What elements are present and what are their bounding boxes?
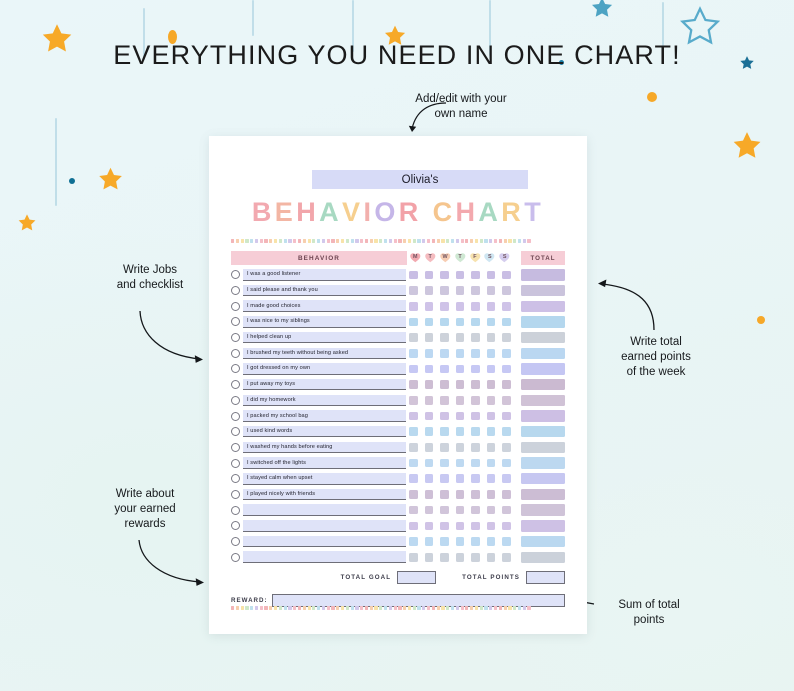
- day-cell[interactable]: [409, 302, 418, 311]
- day-cell[interactable]: [425, 365, 434, 374]
- border-dot: [260, 606, 263, 610]
- day-cell[interactable]: [487, 365, 496, 374]
- day-cell[interactable]: [487, 396, 496, 405]
- border-dot: [451, 239, 454, 243]
- table-row: I washed my hands before eating: [231, 440, 565, 456]
- day-cell[interactable]: [471, 490, 480, 499]
- annotation-total-week: Write total earned points of the week: [601, 335, 711, 380]
- day-cell[interactable]: [425, 380, 434, 389]
- day-cell[interactable]: [409, 490, 418, 499]
- day-cell[interactable]: [425, 490, 434, 499]
- day-cells: [407, 506, 513, 515]
- day-cell[interactable]: [409, 333, 418, 342]
- annotation-rewards: Write about your earned rewards: [88, 487, 202, 532]
- day-cell[interactable]: [440, 490, 449, 499]
- day-cell[interactable]: [502, 506, 511, 515]
- behavior-label-input[interactable]: I was nice to my siblings: [243, 316, 406, 328]
- behavior-label-input[interactable]: [243, 504, 406, 516]
- day-cell[interactable]: [456, 271, 465, 280]
- border-dot: [312, 239, 315, 243]
- day-cells: [407, 318, 513, 327]
- border-dot: [441, 239, 444, 243]
- day-cell[interactable]: [487, 318, 496, 327]
- row-total-cell[interactable]: [521, 426, 565, 437]
- border-dot: [389, 606, 392, 610]
- row-checkbox[interactable]: [231, 490, 240, 499]
- border-dot: [236, 239, 239, 243]
- row-total-cell[interactable]: [521, 379, 565, 390]
- day-cell[interactable]: [487, 271, 496, 280]
- chart-title-letter: H: [296, 197, 319, 228]
- day-cell[interactable]: [440, 318, 449, 327]
- border-dot: [274, 239, 277, 243]
- border-dot: [336, 606, 339, 610]
- day-cells: [407, 427, 513, 436]
- day-cell[interactable]: [425, 302, 434, 311]
- day-cell[interactable]: [487, 427, 496, 436]
- border-dot: [231, 606, 234, 610]
- day-cell[interactable]: [409, 459, 418, 468]
- border-dot: [408, 239, 411, 243]
- row-checkbox[interactable]: [231, 459, 240, 468]
- day-cell[interactable]: [487, 553, 496, 562]
- border-dot: [437, 239, 440, 243]
- border-dot: [417, 606, 420, 610]
- child-name-field[interactable]: Olivia's: [312, 170, 528, 189]
- row-checkbox[interactable]: [231, 380, 240, 389]
- annotation-sum: Sum of total points: [597, 598, 701, 628]
- border-dot: [360, 606, 363, 610]
- day-cell[interactable]: [425, 271, 434, 280]
- day-cell[interactable]: [471, 412, 480, 421]
- border-dot: [355, 606, 358, 610]
- day-cell[interactable]: [471, 443, 480, 452]
- day-cell[interactable]: [425, 522, 434, 531]
- day-cell[interactable]: [471, 302, 480, 311]
- border-dot: [422, 606, 425, 610]
- border-dot: [394, 606, 397, 610]
- day-cell[interactable]: [471, 286, 480, 295]
- border-dot: [475, 606, 478, 610]
- day-cell[interactable]: [502, 412, 511, 421]
- behavior-label-input[interactable]: I brushed my teeth without being asked: [243, 348, 406, 360]
- day-cell[interactable]: [440, 271, 449, 280]
- day-cell[interactable]: [456, 380, 465, 389]
- day-cell[interactable]: [471, 271, 480, 280]
- annotation-arrow-jobs: [130, 308, 210, 366]
- day-cell[interactable]: [409, 474, 418, 483]
- decor-dot: [647, 92, 657, 102]
- day-cell[interactable]: [425, 537, 434, 546]
- row-checkbox[interactable]: [231, 317, 240, 326]
- day-cell[interactable]: [409, 396, 418, 405]
- day-cell[interactable]: [471, 553, 480, 562]
- table-row: I packed my school bag: [231, 408, 565, 424]
- day-cells: [407, 412, 513, 421]
- day-cell[interactable]: [502, 365, 511, 374]
- decor-dot: [757, 316, 765, 324]
- behavior-label-input[interactable]: I washed my hands before eating: [243, 442, 406, 454]
- day-cell[interactable]: [409, 443, 418, 452]
- day-cell[interactable]: [456, 522, 465, 531]
- border-dot: [427, 239, 430, 243]
- border-dot: [379, 239, 382, 243]
- day-cells: [407, 537, 513, 546]
- row-checkbox[interactable]: [231, 474, 240, 483]
- row-total-cell[interactable]: [521, 348, 565, 359]
- row-total-cell[interactable]: [521, 363, 565, 374]
- day-cell[interactable]: [425, 318, 434, 327]
- day-letter: S: [488, 254, 492, 260]
- border-dot: [461, 606, 464, 610]
- behavior-label-input[interactable]: [243, 520, 406, 532]
- page-title: EVERYTHING YOU NEED IN ONE CHART!: [0, 40, 794, 71]
- row-total-cell[interactable]: [521, 410, 565, 421]
- border-dot: [494, 239, 497, 243]
- day-cell[interactable]: [409, 380, 418, 389]
- day-cell[interactable]: [440, 459, 449, 468]
- day-cell[interactable]: [456, 537, 465, 546]
- day-cell[interactable]: [425, 427, 434, 436]
- day-cell[interactable]: [456, 318, 465, 327]
- behavior-label-input[interactable]: I switched off the lights: [243, 457, 406, 469]
- row-total-cell[interactable]: [521, 504, 565, 515]
- day-cell[interactable]: [425, 474, 434, 483]
- border-dot: [245, 606, 248, 610]
- behavior-label-input[interactable]: I packed my school bag: [243, 410, 406, 422]
- totals-row: TOTAL GOAL TOTAL POINTS: [231, 568, 565, 587]
- chart-title-letter: A: [319, 197, 342, 228]
- day-cell[interactable]: [440, 302, 449, 311]
- row-total-cell[interactable]: [521, 520, 565, 531]
- day-cell[interactable]: [471, 506, 480, 515]
- day-cell[interactable]: [409, 349, 418, 358]
- day-cell[interactable]: [502, 302, 511, 311]
- border-dot: [284, 239, 287, 243]
- border-dot: [308, 239, 311, 243]
- day-cells: [407, 459, 513, 468]
- day-cell[interactable]: [409, 318, 418, 327]
- day-cell[interactable]: [471, 459, 480, 468]
- day-cell[interactable]: [487, 333, 496, 342]
- row-total-cell[interactable]: [521, 552, 565, 563]
- row-checkbox[interactable]: [231, 553, 240, 562]
- border-dot: [394, 239, 397, 243]
- behavior-label-input[interactable]: I used kind words: [243, 426, 406, 438]
- day-cell[interactable]: [409, 286, 418, 295]
- day-cell[interactable]: [440, 286, 449, 295]
- chart-title-letter: V: [342, 197, 363, 228]
- border-dot: [260, 239, 263, 243]
- day-cell[interactable]: [409, 427, 418, 436]
- day-cell[interactable]: [425, 553, 434, 562]
- border-dot: [499, 239, 502, 243]
- behavior-label-input[interactable]: I put away my toys: [243, 379, 406, 391]
- day-cell[interactable]: [456, 490, 465, 499]
- day-cell[interactable]: [471, 380, 480, 389]
- annotation-arrow-total-week: [588, 270, 664, 332]
- table-row: [231, 502, 565, 518]
- behavior-label-input[interactable]: I made good choices: [243, 300, 406, 312]
- row-total-cell[interactable]: [521, 269, 565, 280]
- day-cell[interactable]: [456, 506, 465, 515]
- border-dot: [231, 239, 234, 243]
- day-cell[interactable]: [456, 302, 465, 311]
- day-cell[interactable]: [456, 365, 465, 374]
- day-cell[interactable]: [502, 443, 511, 452]
- day-cell[interactable]: [440, 380, 449, 389]
- row-total-cell[interactable]: [521, 285, 565, 296]
- day-cell[interactable]: [409, 553, 418, 562]
- row-checkbox[interactable]: [231, 349, 240, 358]
- behavior-label-input[interactable]: I said please and thank you: [243, 285, 406, 297]
- row-checkbox[interactable]: [231, 443, 240, 452]
- column-header-days: MTWTFSS: [407, 251, 513, 265]
- day-cell[interactable]: [440, 333, 449, 342]
- row-total-cell[interactable]: [521, 332, 565, 343]
- day-cell[interactable]: [502, 396, 511, 405]
- border-dot: [456, 239, 459, 243]
- chart-title-letter: T: [524, 197, 544, 228]
- row-checkbox[interactable]: [231, 302, 240, 311]
- border-dot: [374, 606, 377, 610]
- day-cell[interactable]: [440, 443, 449, 452]
- day-cell[interactable]: [456, 459, 465, 468]
- border-dot: [308, 606, 311, 610]
- day-cell[interactable]: [471, 427, 480, 436]
- behavior-label-input[interactable]: I got dressed on my own: [243, 363, 406, 375]
- table-row: I got dressed on my own: [231, 361, 565, 377]
- table-row: I brushed my teeth without being asked: [231, 345, 565, 361]
- day-cell[interactable]: [440, 396, 449, 405]
- day-cell[interactable]: [471, 522, 480, 531]
- border-dot: [264, 606, 267, 610]
- row-total-cell[interactable]: [521, 489, 565, 500]
- behavior-label-input[interactable]: I helped clean up: [243, 332, 406, 344]
- decor-line: [55, 118, 57, 206]
- border-dot: [499, 606, 502, 610]
- day-header-heart-6: S: [498, 251, 511, 264]
- day-cell[interactable]: [471, 349, 480, 358]
- day-cell[interactable]: [502, 318, 511, 327]
- day-cell[interactable]: [440, 349, 449, 358]
- table-row: I switched off the lights: [231, 455, 565, 471]
- row-checkbox[interactable]: [231, 396, 240, 405]
- border-dot: [351, 239, 354, 243]
- border-dot: [269, 239, 272, 243]
- border-dot: [284, 606, 287, 610]
- day-cell[interactable]: [440, 474, 449, 483]
- day-cell[interactable]: [502, 537, 511, 546]
- table-header-row: BEHAVIOR MTWTFSS TOTAL: [231, 251, 565, 265]
- day-cell[interactable]: [502, 349, 511, 358]
- day-cell[interactable]: [502, 459, 511, 468]
- day-cells: [407, 396, 513, 405]
- behavior-label-input[interactable]: I played nicely with friends: [243, 489, 406, 501]
- day-cell[interactable]: [409, 412, 418, 421]
- border-dot: [317, 239, 320, 243]
- row-total-cell[interactable]: [521, 442, 565, 453]
- day-cell[interactable]: [425, 333, 434, 342]
- behavior-label-input[interactable]: [243, 551, 406, 563]
- day-cell[interactable]: [502, 286, 511, 295]
- day-cell[interactable]: [502, 474, 511, 483]
- border-dot: [484, 239, 487, 243]
- day-cell[interactable]: [456, 286, 465, 295]
- chart-title-letter: B: [252, 197, 275, 228]
- border-dot: [513, 606, 516, 610]
- behavior-label-input[interactable]: I stayed calm when upset: [243, 473, 406, 485]
- border-dot: [413, 239, 416, 243]
- promo-canvas: EVERYTHING YOU NEED IN ONE CHART! Add/ed…: [0, 0, 794, 691]
- day-cell[interactable]: [456, 412, 465, 421]
- day-cell[interactable]: [425, 459, 434, 468]
- day-cell[interactable]: [471, 537, 480, 546]
- day-cell[interactable]: [502, 553, 511, 562]
- row-total-cell[interactable]: [521, 301, 565, 312]
- day-cell[interactable]: [456, 333, 465, 342]
- border-dot: [236, 606, 239, 610]
- border-dot: [255, 239, 258, 243]
- border-dot: [446, 606, 449, 610]
- border-dot: [274, 606, 277, 610]
- day-cell[interactable]: [487, 443, 496, 452]
- border-dot: [360, 239, 363, 243]
- row-total-cell[interactable]: [521, 316, 565, 327]
- day-header-heart-5: S: [483, 251, 496, 264]
- day-cell[interactable]: [471, 396, 480, 405]
- border-dot: [255, 606, 258, 610]
- day-cell[interactable]: [502, 333, 511, 342]
- day-cell[interactable]: [409, 506, 418, 515]
- border-dot: [518, 606, 521, 610]
- row-checkbox[interactable]: [231, 537, 240, 546]
- border-dot: [365, 606, 368, 610]
- border-dot: [422, 239, 425, 243]
- day-cell[interactable]: [440, 412, 449, 421]
- day-cell[interactable]: [471, 474, 480, 483]
- day-cell[interactable]: [487, 349, 496, 358]
- border-dot: [322, 606, 325, 610]
- row-checkbox[interactable]: [231, 427, 240, 436]
- total-goal-input[interactable]: [397, 571, 436, 584]
- day-cell[interactable]: [487, 522, 496, 531]
- border-dot: [427, 606, 430, 610]
- day-cell[interactable]: [487, 459, 496, 468]
- row-total-cell[interactable]: [521, 536, 565, 547]
- row-total-cell[interactable]: [521, 395, 565, 406]
- border-dot: [365, 239, 368, 243]
- day-cell[interactable]: [409, 365, 418, 374]
- behavior-label-input[interactable]: I did my homework: [243, 395, 406, 407]
- border-dot: [355, 239, 358, 243]
- chart-title-letter: [422, 197, 433, 228]
- day-cell[interactable]: [456, 396, 465, 405]
- row-checkbox[interactable]: [231, 521, 240, 530]
- day-cell[interactable]: [487, 380, 496, 389]
- day-cell[interactable]: [487, 412, 496, 421]
- day-cell[interactable]: [502, 427, 511, 436]
- day-cell[interactable]: [425, 349, 434, 358]
- border-dot: [441, 606, 444, 610]
- border-dot: [384, 606, 387, 610]
- day-cell[interactable]: [502, 271, 511, 280]
- behavior-label-input[interactable]: [243, 536, 406, 548]
- day-cell[interactable]: [502, 522, 511, 531]
- row-total-cell[interactable]: [521, 457, 565, 468]
- row-checkbox[interactable]: [231, 364, 240, 373]
- row-checkbox[interactable]: [231, 412, 240, 421]
- day-cell[interactable]: [440, 506, 449, 515]
- day-cells: [407, 443, 513, 452]
- behavior-label-input[interactable]: I was a good listener: [243, 269, 406, 281]
- day-cell[interactable]: [409, 522, 418, 531]
- chart-title-letter: H: [455, 197, 478, 228]
- day-cell[interactable]: [487, 302, 496, 311]
- day-cell[interactable]: [487, 474, 496, 483]
- day-cell[interactable]: [456, 349, 465, 358]
- total-points-input[interactable]: [526, 571, 565, 584]
- day-cell[interactable]: [440, 553, 449, 562]
- day-cell[interactable]: [471, 333, 480, 342]
- day-cell[interactable]: [487, 490, 496, 499]
- border-dot: [398, 606, 401, 610]
- border-dot: [523, 606, 526, 610]
- day-cell[interactable]: [409, 537, 418, 546]
- day-cell[interactable]: [502, 490, 511, 499]
- day-cell[interactable]: [440, 427, 449, 436]
- border-dot: [465, 606, 468, 610]
- day-cells: [407, 365, 513, 374]
- day-cell[interactable]: [425, 286, 434, 295]
- day-letter: W: [443, 254, 448, 260]
- day-cell[interactable]: [425, 396, 434, 405]
- day-cell[interactable]: [487, 537, 496, 546]
- day-cell[interactable]: [456, 443, 465, 452]
- row-total-cell[interactable]: [521, 473, 565, 484]
- day-cell[interactable]: [409, 271, 418, 280]
- day-cell[interactable]: [456, 474, 465, 483]
- day-cell[interactable]: [487, 286, 496, 295]
- day-cell[interactable]: [440, 365, 449, 374]
- day-cell[interactable]: [425, 506, 434, 515]
- border-dot: [504, 606, 507, 610]
- row-checkbox[interactable]: [231, 286, 240, 295]
- border-dot: [245, 239, 248, 243]
- day-cell[interactable]: [456, 427, 465, 436]
- row-checkbox[interactable]: [231, 506, 240, 515]
- day-cell[interactable]: [471, 318, 480, 327]
- day-cell[interactable]: [425, 412, 434, 421]
- border-dot: [384, 239, 387, 243]
- day-cell[interactable]: [502, 380, 511, 389]
- day-cell[interactable]: [440, 537, 449, 546]
- border-dot: [241, 239, 244, 243]
- chart-title-letter: R: [501, 197, 524, 228]
- table-row: I was a good listener: [231, 267, 565, 283]
- row-checkbox[interactable]: [231, 270, 240, 279]
- day-cell[interactable]: [471, 365, 480, 374]
- table-row: I helped clean up: [231, 330, 565, 346]
- row-checkbox[interactable]: [231, 333, 240, 342]
- day-cells: [407, 302, 513, 311]
- decor-dotted-border-bottom: [231, 606, 565, 610]
- day-cell[interactable]: [487, 506, 496, 515]
- day-cell[interactable]: [425, 443, 434, 452]
- day-cell[interactable]: [440, 522, 449, 531]
- day-cell[interactable]: [456, 553, 465, 562]
- border-dot: [327, 239, 330, 243]
